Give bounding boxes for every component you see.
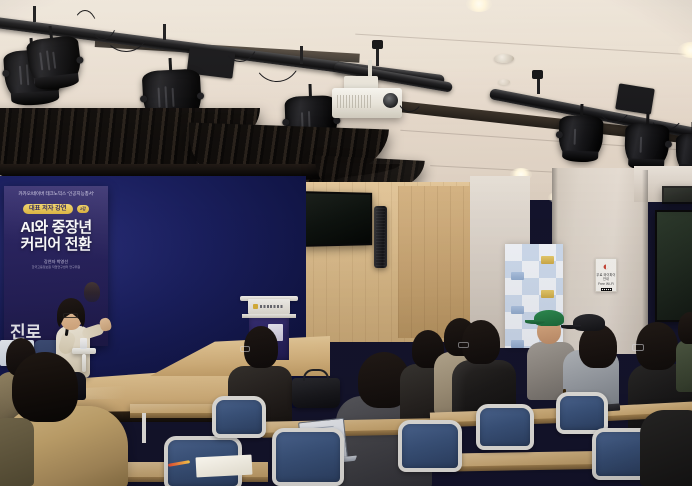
- chair-back: [476, 404, 534, 450]
- chair-back: [212, 396, 266, 438]
- speaker-grill: [376, 208, 385, 266]
- black-cap-brim: [561, 325, 581, 329]
- truss-clamp: [372, 40, 383, 49]
- light-body: [558, 115, 604, 161]
- wifi-sign-line2: Free Wi-Fi: [598, 282, 614, 286]
- green-cap-brim: [525, 320, 545, 324]
- person-torso: [640, 410, 692, 486]
- chair-left-behind: [212, 396, 266, 438]
- chair-front-center: [272, 428, 344, 486]
- light-lens: [561, 150, 598, 163]
- light-vent: [640, 137, 643, 152]
- audience-foreground-right: [640, 396, 692, 486]
- truss-clamp: [532, 70, 543, 79]
- stage-light: [24, 23, 84, 97]
- person-glasses: [458, 342, 469, 348]
- wifi-notice-sign: ◐ 무료 와이파이 안내 Free Wi-Fi: [595, 258, 617, 292]
- qr-code-icon: [601, 288, 612, 292]
- light-vent: [19, 66, 22, 85]
- light-vent: [40, 52, 44, 71]
- light-vent: [574, 129, 577, 144]
- photo-scene: ◐ 무료 와이파이 안내 Free Wi-Fi 카카오/네이버 테크노믹스 '인…: [0, 0, 692, 486]
- light-lens: [34, 73, 79, 91]
- light-body: [624, 123, 670, 169]
- stage-light: [558, 103, 604, 166]
- chair-back: [272, 428, 344, 486]
- banner-title-line2: 커리어 전환: [4, 236, 108, 253]
- bag-handle: [303, 369, 330, 381]
- ceiling-projector: [332, 88, 402, 118]
- person-glasses: [240, 346, 250, 352]
- person-torso: [676, 340, 692, 392]
- paper-on-desk: [196, 455, 253, 478]
- light-vent: [46, 50, 50, 71]
- ceiling-speaker-icon: [498, 79, 510, 85]
- projector-lens: [383, 93, 398, 108]
- projector-vents: [337, 95, 371, 108]
- truss-dropper: [33, 6, 36, 22]
- wall-display-right: [655, 210, 692, 322]
- sponsor-logo: [511, 306, 524, 314]
- wall-display-topright: [662, 186, 692, 204]
- audience-right-edge: [676, 312, 692, 392]
- sponsor-logo: [541, 290, 554, 298]
- light-vent: [164, 86, 167, 109]
- lectern-logo-text: [260, 305, 284, 308]
- wifi-sign-line1: 무료 와이파이 안내: [596, 273, 616, 281]
- wifi-icon: ◐: [603, 262, 610, 272]
- light-vent: [52, 51, 56, 69]
- light-vent: [158, 87, 161, 107]
- person-torso: [0, 418, 34, 486]
- wall-display-center: [302, 191, 372, 247]
- person-glasses: [632, 344, 644, 351]
- banner-session-chip: 2강: [77, 205, 89, 213]
- banner-speaker-affiliation: 한국고용정보원 직업연구센터 연구위원: [4, 265, 108, 269]
- truss-dropper: [163, 24, 166, 40]
- light-body: [26, 35, 84, 90]
- banner-speaker-name: 강연자 박영선: [4, 259, 108, 264]
- sponsor-logo: [511, 272, 524, 280]
- chair-mid-right: [476, 404, 534, 450]
- person-hair: [678, 312, 692, 344]
- audience-foreground-left-edge: [0, 398, 34, 486]
- lectern-logo-mark: [253, 304, 258, 309]
- shoulder-bag: [292, 378, 340, 408]
- chair-mid-center: [398, 420, 462, 472]
- banner-subtitle: 카카오/네이버 테크노믹스 '인공지능총서': [4, 191, 108, 197]
- water-cup: [80, 338, 87, 349]
- light-vent: [172, 88, 175, 107]
- ceiling-speaker-icon: [494, 54, 514, 63]
- banner-title-line1: AI와 중장년: [4, 219, 108, 236]
- presenter-glasses: [63, 313, 78, 318]
- chair-back: [398, 420, 462, 472]
- column-speaker: [374, 206, 387, 268]
- presenter-hand: [99, 317, 112, 332]
- desk-leg: [142, 413, 146, 443]
- banner-badge: 대표 저자 강연: [23, 204, 73, 214]
- sponsor-logo: [541, 256, 554, 264]
